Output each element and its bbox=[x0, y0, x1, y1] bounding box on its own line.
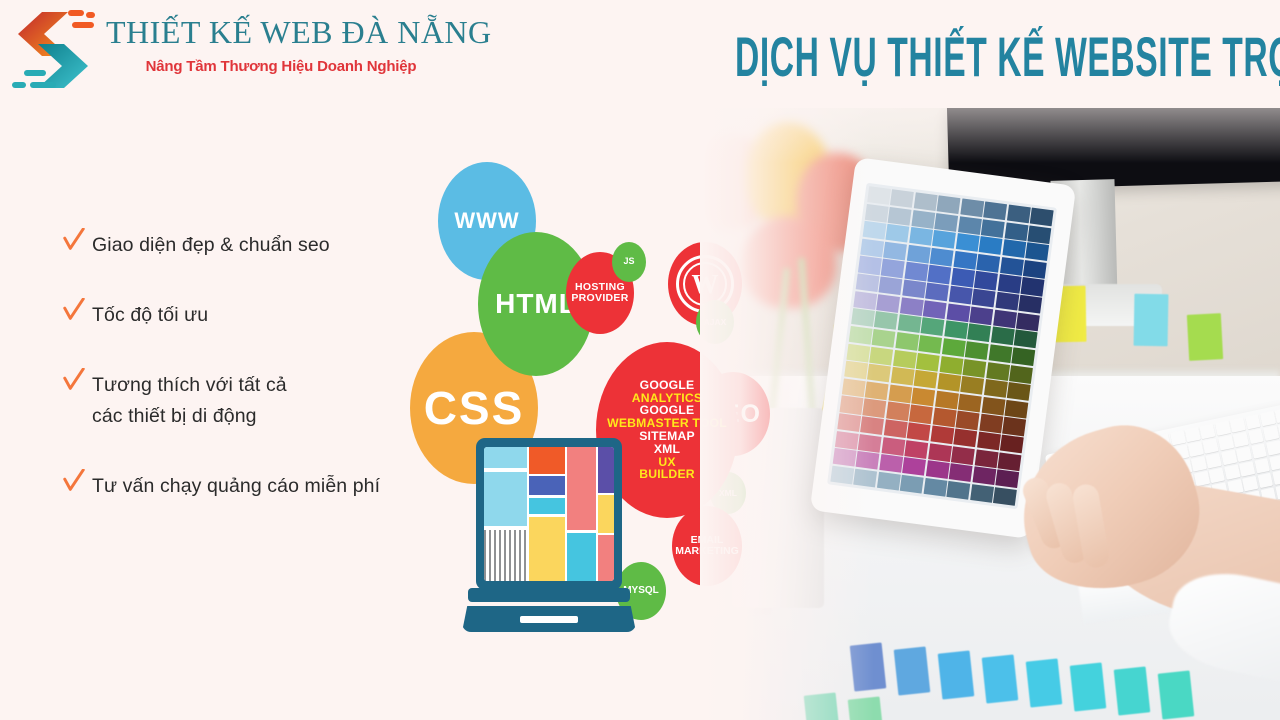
main-line: GOOGLE bbox=[607, 379, 727, 392]
laptop-base bbox=[462, 606, 636, 632]
list-item-label: Tương thích với tất cả các thiết bị di đ… bbox=[92, 370, 287, 430]
laptop-trackpad bbox=[520, 616, 578, 623]
list-item-label: Tư vấn chạy quảng cáo miễn phí bbox=[92, 471, 380, 501]
color-swatch bbox=[1026, 658, 1063, 707]
list-item: Tương thích với tất cả các thiết bị di đ… bbox=[62, 370, 442, 430]
bubble-label: JS bbox=[619, 257, 638, 266]
check-mark-icon bbox=[62, 298, 92, 327]
list-item-label: Giao diện đẹp & chuẩn seo bbox=[92, 230, 330, 260]
check-mark-icon bbox=[62, 228, 92, 257]
bubble-label: WWW bbox=[450, 209, 523, 232]
list-item: Giao diện đẹp & chuẩn seo bbox=[62, 230, 442, 260]
designer-desk-photo bbox=[700, 108, 1280, 720]
color-swatch bbox=[1070, 662, 1107, 711]
check-mark-icon bbox=[62, 368, 92, 397]
color-swatch bbox=[848, 696, 885, 720]
sticky-note bbox=[1134, 294, 1169, 347]
bubble-label: AJAX bbox=[700, 318, 731, 327]
bubble-ajax: AJAX bbox=[696, 300, 734, 344]
tablet-color-palette bbox=[827, 183, 1057, 509]
color-swatch bbox=[1114, 666, 1151, 715]
web-technology-bubble-cloud: CSS WWW HTML HOSTING PROVIDER JS W AJAX … bbox=[400, 150, 760, 660]
list-item: Tốc độ tối ưu bbox=[62, 300, 442, 330]
bubble-email-marketing: EMAIL MARKETING bbox=[672, 506, 742, 586]
sticky-note bbox=[1187, 313, 1223, 361]
brand-name: THIẾT KẾ WEB ĐÀ NẴNG bbox=[106, 14, 456, 51]
bubble-label: HOSTING PROVIDER bbox=[566, 282, 634, 304]
laptop-screen bbox=[484, 447, 614, 581]
brand-header: THIẾT KẾ WEB ĐÀ NẴNG Nâng Tầm Thương Hiệ… bbox=[0, 0, 470, 100]
bubble-label: EMAIL MARKETING bbox=[671, 535, 743, 557]
list-item: Tư vấn chạy quảng cáo miễn phí bbox=[62, 471, 442, 501]
color-swatch bbox=[938, 650, 975, 699]
laptop-hinge bbox=[468, 588, 630, 602]
poster-canvas: THIẾT KẾ WEB ĐÀ NẴNG Nâng Tầm Thương Hiệ… bbox=[0, 0, 1280, 720]
list-item-label: Tốc độ tối ưu bbox=[92, 300, 208, 330]
chevron-s-logo-icon bbox=[8, 6, 100, 94]
color-swatch bbox=[850, 642, 887, 691]
feature-list: Giao diện đẹp & chuẩn seo Tốc độ tối ưu … bbox=[62, 230, 442, 541]
wordpress-w-glyph: W bbox=[683, 262, 727, 306]
headline-banner: DỊCH VỤ THIẾT KẾ WEBSITE TRỌN GÓI bbox=[735, 14, 1280, 100]
check-mark-icon bbox=[62, 469, 92, 498]
laptop-wireframe-icon bbox=[468, 438, 630, 646]
color-swatch bbox=[1158, 670, 1195, 719]
color-swatch bbox=[982, 654, 1019, 703]
headline-text: DỊCH VỤ THIẾT KẾ WEBSITE TRỌN GÓI bbox=[735, 29, 1280, 85]
bubble-js: JS bbox=[612, 242, 646, 282]
color-swatch bbox=[804, 692, 841, 720]
color-swatch bbox=[894, 646, 931, 695]
bubble-label: CSS bbox=[420, 384, 529, 432]
brand-tagline: Nâng Tầm Thương Hiệu Doanh Nghiệp bbox=[106, 58, 456, 75]
